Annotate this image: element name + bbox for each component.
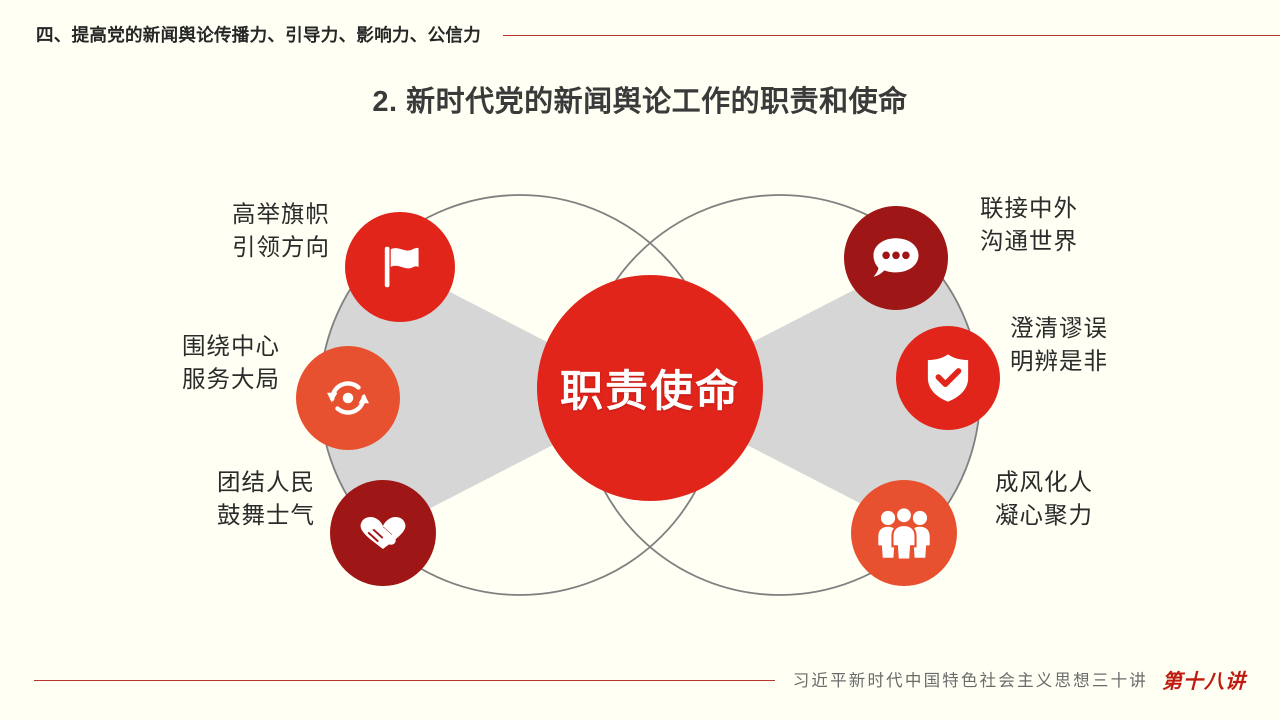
caption-flag: 高举旗帜 引领方向	[160, 198, 330, 265]
header-divider-line	[503, 35, 1280, 36]
node-handshake[interactable]	[330, 480, 436, 586]
caption-handshake: 团结人民 鼓舞士气	[145, 466, 315, 533]
node-sync[interactable]	[296, 346, 400, 450]
page-title: 2. 新时代党的新闻舆论工作的职责和使命	[0, 78, 1280, 120]
caption-chat-line2: 沟通世界	[980, 225, 1170, 258]
caption-shield-line2: 明辨是非	[1010, 345, 1200, 378]
slide-header: 四、提高党的新闻舆论传播力、引导力、影响力、公信力	[0, 14, 1280, 54]
flag-icon	[373, 240, 427, 294]
caption-people-line2: 凝心聚力	[995, 499, 1185, 532]
caption-shield: 澄清谬误 明辨是非	[1010, 312, 1200, 379]
node-flag[interactable]	[345, 212, 455, 322]
speech-bubble-icon	[867, 231, 925, 285]
slide-footer: 习近平新时代中国特色社会主义思想三十讲 第十八讲	[0, 664, 1280, 694]
caption-people: 成风化人 凝心聚力	[995, 466, 1185, 533]
footer-divider-line	[34, 680, 775, 681]
node-shield[interactable]	[896, 326, 1000, 430]
venn-diagram: 职责使命 高举旗帜 引领方向 围绕中心 服务大局	[0, 150, 1280, 630]
caption-handshake-line2: 鼓舞士气	[145, 499, 315, 532]
footer-lecture-badge: 第十八讲	[1162, 665, 1246, 694]
caption-shield-line1: 澄清谬误	[1010, 312, 1200, 345]
footer-series-title: 习近平新时代中国特色社会主义思想三十讲	[793, 667, 1148, 691]
people-group-icon	[873, 504, 935, 562]
node-people[interactable]	[851, 480, 957, 586]
shield-check-icon	[922, 350, 974, 406]
node-chat[interactable]	[844, 206, 948, 310]
caption-people-line1: 成风化人	[995, 466, 1185, 499]
caption-flag-line2: 引领方向	[160, 231, 330, 264]
caption-flag-line1: 高举旗帜	[160, 198, 330, 231]
caption-chat: 联接中外 沟通世界	[980, 192, 1170, 259]
caption-sync-line2: 服务大局	[110, 363, 280, 396]
section-heading: 四、提高党的新闻舆论传播力、引导力、影响力、公信力	[36, 22, 481, 47]
caption-handshake-line1: 团结人民	[145, 466, 315, 499]
handshake-heart-icon	[351, 502, 415, 564]
center-hub[interactable]: 职责使命	[537, 275, 763, 501]
refresh-cycle-icon	[320, 370, 376, 426]
caption-sync: 围绕中心 服务大局	[110, 330, 280, 397]
center-hub-label: 职责使命	[560, 357, 740, 419]
caption-sync-line1: 围绕中心	[110, 330, 280, 363]
caption-chat-line1: 联接中外	[980, 192, 1170, 225]
